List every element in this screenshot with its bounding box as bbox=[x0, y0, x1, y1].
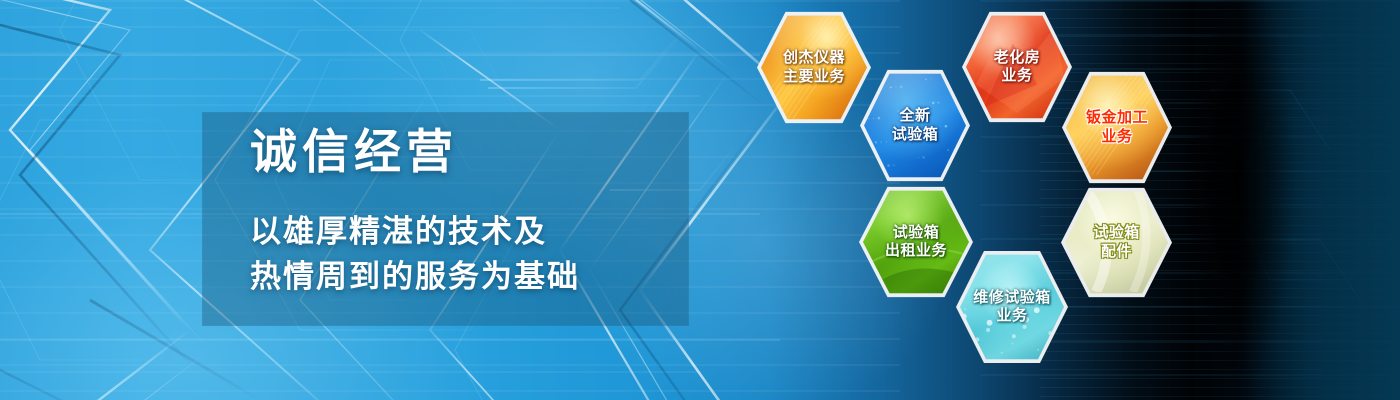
page-title: 诚信经营 bbox=[250, 124, 690, 179]
hexagon-label: 试验箱 出租业务 bbox=[885, 224, 947, 261]
subtitle-line-1: 以雄厚精湛的技术及 bbox=[250, 206, 710, 251]
hexagon-label: 老化房 业务 bbox=[994, 49, 1041, 86]
background-teal-edge bbox=[1240, 0, 1400, 400]
subtitle-line-2: 热情周到的服务为基础 bbox=[250, 251, 710, 296]
hexagon-label: 创杰仪器 主要业务 bbox=[783, 49, 845, 86]
hexagon-label: 试验箱 配件 bbox=[1093, 224, 1140, 261]
hexagon-label: 钣金加工 业务 bbox=[1086, 109, 1148, 146]
promo-banner: 诚信经营 以雄厚精湛的技术及 热情周到的服务为基础 创杰仪器 主要业务全新 试验… bbox=[0, 0, 1400, 400]
hexagon-label: 维修试验箱 业务 bbox=[973, 289, 1051, 326]
hexagon-label: 全新 试验箱 bbox=[892, 107, 939, 144]
